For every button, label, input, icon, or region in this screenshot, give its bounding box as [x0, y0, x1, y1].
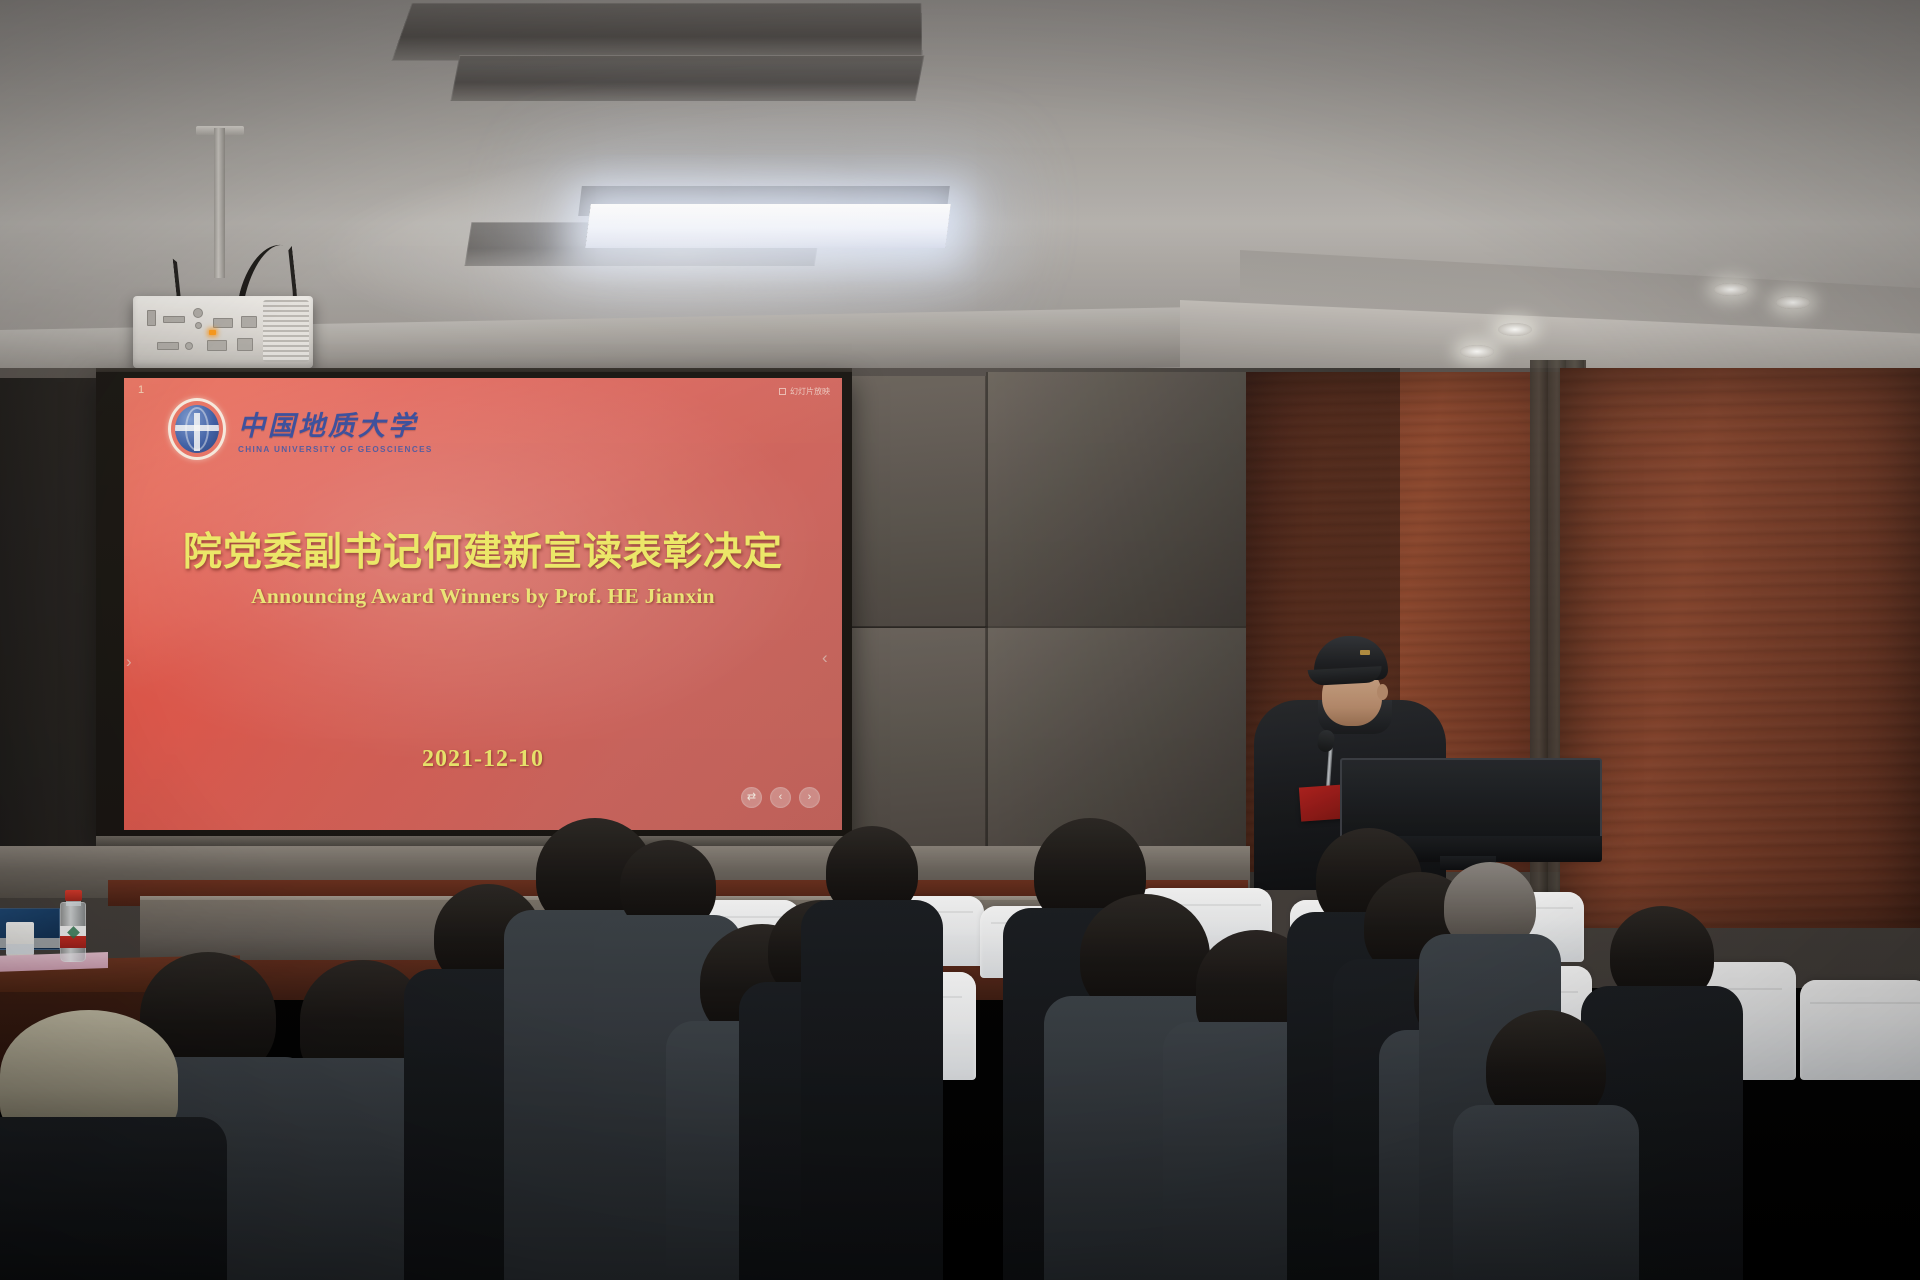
logo-chinese-name: 中国地质大学: [238, 404, 433, 443]
fluorescent-light-icon: [585, 204, 950, 248]
audience-member-shoulders: [801, 900, 944, 1280]
present-mode-button[interactable]: ⇄: [741, 787, 762, 808]
ceiling-projector: [133, 296, 313, 368]
speaker-ear: [1377, 684, 1388, 700]
presentation-slide[interactable]: 1 幻灯片放映 中国地质大学 CHINA UNIVERSITY OF GEOSC…: [124, 378, 842, 830]
slide-badge-label: 幻灯片放映: [790, 386, 830, 397]
screen-right-marker: ‹: [822, 648, 828, 668]
slide-subtitle: Announcing Award Winners by Prof. HE Jia…: [124, 584, 842, 609]
slide-page-number: 1: [138, 384, 144, 396]
downlight-icon: [1498, 323, 1532, 336]
logo-text-block: 中国地质大学 CHINA UNIVERSITY OF GEOSCIENCES: [238, 404, 433, 454]
logo-english-name: CHINA UNIVERSITY OF GEOSCIENCES: [238, 445, 433, 454]
ceiling-troffer-1: [392, 2, 923, 60]
screen-left-marker: ›: [126, 652, 132, 672]
logo-ring-icon: [168, 398, 226, 460]
previous-slide-button[interactable]: ‹: [770, 787, 791, 808]
audience-member-shoulders: [1453, 1105, 1639, 1280]
audience-chair: [1800, 980, 1920, 1080]
water-bottle: [60, 890, 86, 962]
projector-ports: [145, 306, 263, 360]
downlight-icon: [1460, 345, 1494, 358]
downlight-icon: [1714, 283, 1748, 296]
lecture-hall-photo: 1 幻灯片放映 中国地质大学 CHINA UNIVERSITY OF GEOSC…: [0, 0, 1920, 1280]
globe-emblem-icon: [168, 398, 226, 460]
slide-navigation-controls[interactable]: ⇄ ‹ ›: [741, 787, 820, 808]
ceiling-troffer-2: [451, 55, 925, 101]
university-logo: 中国地质大学 CHINA UNIVERSITY OF GEOSCIENCES: [168, 398, 433, 460]
slide-date: 2021-12-10: [124, 746, 842, 773]
projector-vent: [263, 300, 309, 362]
audience-member-shoulders: [0, 1117, 227, 1280]
next-slide-button[interactable]: ›: [799, 787, 820, 808]
downlight-icon: [1776, 296, 1810, 309]
slide-title: 院党委副书记何建新宣读表彰决定: [124, 521, 842, 577]
cap-logo-icon: [1360, 650, 1370, 655]
projector-power-led-icon: [209, 330, 216, 335]
bottle-cap: [65, 890, 82, 901]
wood-wall-panel-right: [1560, 368, 1920, 928]
slide-status-badge: 幻灯片放映: [779, 386, 830, 397]
paper-cup-band: [6, 944, 34, 954]
slideshow-icon: [779, 388, 786, 395]
